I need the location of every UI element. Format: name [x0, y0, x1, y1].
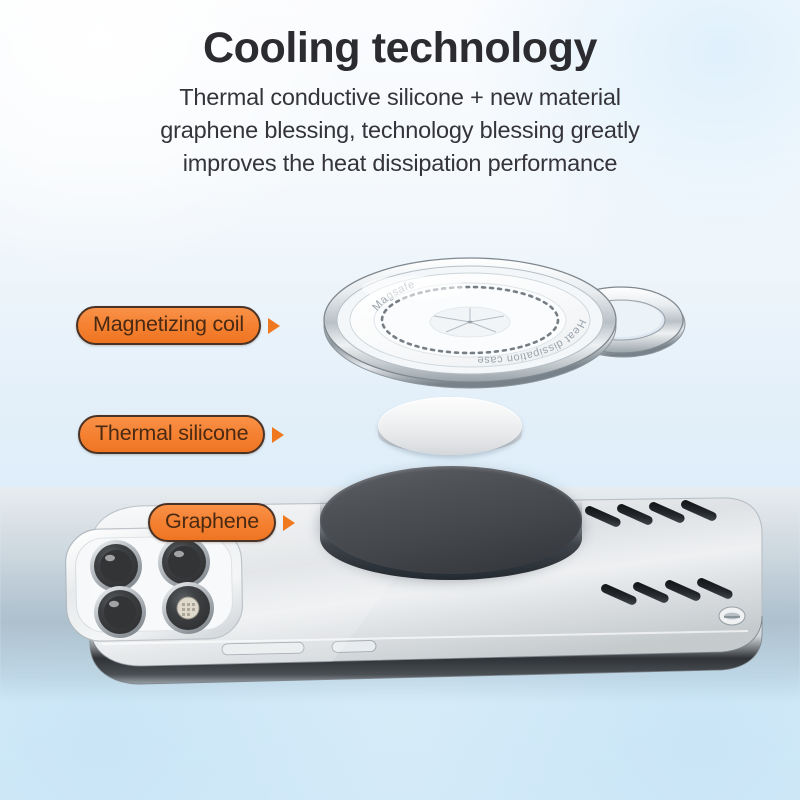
callout-label-magnetizing-coil[interactable]: Magnetizing coil	[76, 306, 261, 345]
callout-graphene[interactable]: Graphene	[148, 503, 295, 542]
callout-thermal-silicone[interactable]: Thermal silicone	[78, 415, 284, 454]
callout-arrow-icon	[272, 427, 284, 443]
case-port-detail	[719, 607, 745, 625]
callout-arrow-icon	[268, 318, 280, 334]
graphene-disc	[320, 466, 582, 574]
subtitle-line-3: improves the heat dissipation performanc…	[50, 147, 750, 180]
page-title: Cooling technology	[0, 26, 800, 71]
header-block: Cooling technology Thermal conductive si…	[0, 26, 800, 181]
magsafe-ring-svg: Magsafe Heat dissipation case	[318, 252, 698, 392]
subtitle-line-2: graphene blessing, technology blessing g…	[50, 114, 750, 147]
subtitle-line-1: Thermal conductive silicone + new materi…	[50, 81, 750, 114]
callout-arrow-icon	[283, 515, 295, 531]
infographic-canvas: Cooling technology Thermal conductive si…	[0, 0, 800, 800]
silicone-disc	[378, 397, 522, 455]
callout-label-thermal-silicone[interactable]: Thermal silicone	[78, 415, 265, 454]
magsafe-ring-assembly: Magsafe Heat dissipation case	[318, 252, 698, 392]
magsafe-disc: Magsafe Heat dissipation case	[324, 258, 616, 388]
page-subtitle: Thermal conductive silicone + new materi…	[50, 81, 750, 180]
callout-label-graphene[interactable]: Graphene	[148, 503, 276, 542]
callout-magnetizing-coil[interactable]: Magnetizing coil	[76, 306, 280, 345]
